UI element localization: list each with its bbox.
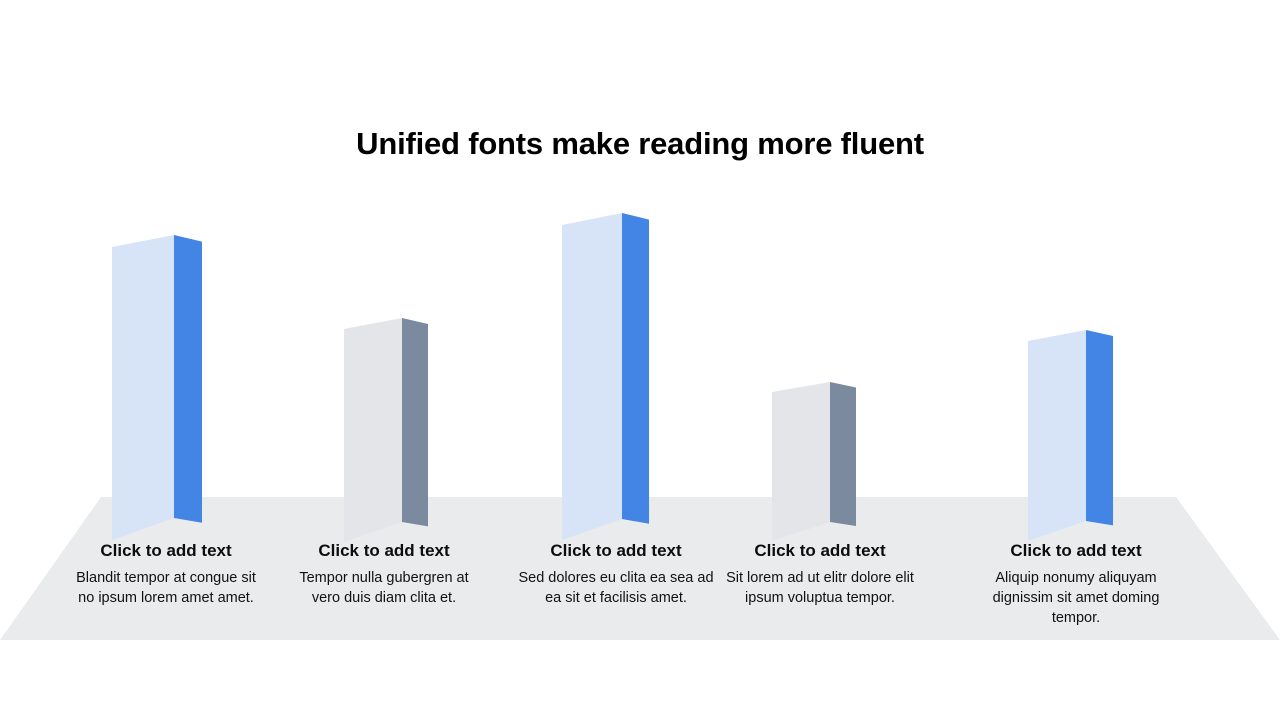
caption-column-2[interactable]: Click to add textTempor nulla gubergren … xyxy=(286,540,482,608)
bar-4-front-face xyxy=(772,382,830,541)
caption-column-1[interactable]: Click to add textBlandit tempor at congu… xyxy=(68,540,264,608)
caption-column-4[interactable]: Click to add textSit lorem ad ut elitr d… xyxy=(722,540,918,608)
caption-body-1[interactable]: Blandit tempor at congue sit no ipsum lo… xyxy=(68,568,264,608)
caption-column-3[interactable]: Click to add textSed dolores eu clita ea… xyxy=(518,540,714,608)
caption-body-4[interactable]: Sit lorem ad ut elitr dolore elit ipsum … xyxy=(722,568,918,608)
caption-heading-5[interactable]: Click to add text xyxy=(978,540,1174,562)
page-title: Unified fonts make reading more fluent xyxy=(0,124,1280,164)
bar-2[interactable] xyxy=(344,318,428,546)
bar-4[interactable] xyxy=(772,382,856,545)
caption-heading-2[interactable]: Click to add text xyxy=(286,540,482,562)
bar-1-side-face xyxy=(174,235,202,523)
caption-group: Click to add textBlandit tempor at congu… xyxy=(0,540,1280,650)
caption-heading-3[interactable]: Click to add text xyxy=(518,540,714,562)
caption-body-2[interactable]: Tempor nulla gubergren at vero duis diam… xyxy=(286,568,482,608)
caption-column-5[interactable]: Click to add textAliquip nonumy aliquyam… xyxy=(978,540,1174,628)
bar-1-front-face xyxy=(112,235,174,540)
bar-1[interactable] xyxy=(112,235,202,544)
caption-heading-4[interactable]: Click to add text xyxy=(722,540,918,562)
bar-3-side-face xyxy=(622,213,649,524)
bar-5[interactable] xyxy=(1028,330,1113,545)
bar-3-front-face xyxy=(562,213,622,540)
presentation-slide: Unified fonts make reading more fluent C… xyxy=(0,0,1280,720)
bar-5-side-face xyxy=(1086,330,1113,525)
bar-2-side-face xyxy=(402,318,428,526)
bar-2-front-face xyxy=(344,318,402,542)
caption-heading-1[interactable]: Click to add text xyxy=(68,540,264,562)
bar-5-front-face xyxy=(1028,330,1086,541)
caption-body-5[interactable]: Aliquip nonumy aliquyam dignissim sit am… xyxy=(978,568,1174,628)
bar-4-side-face xyxy=(830,382,856,526)
caption-body-3[interactable]: Sed dolores eu clita ea sea ad ea sit et… xyxy=(518,568,714,608)
bar-3[interactable] xyxy=(562,213,649,544)
